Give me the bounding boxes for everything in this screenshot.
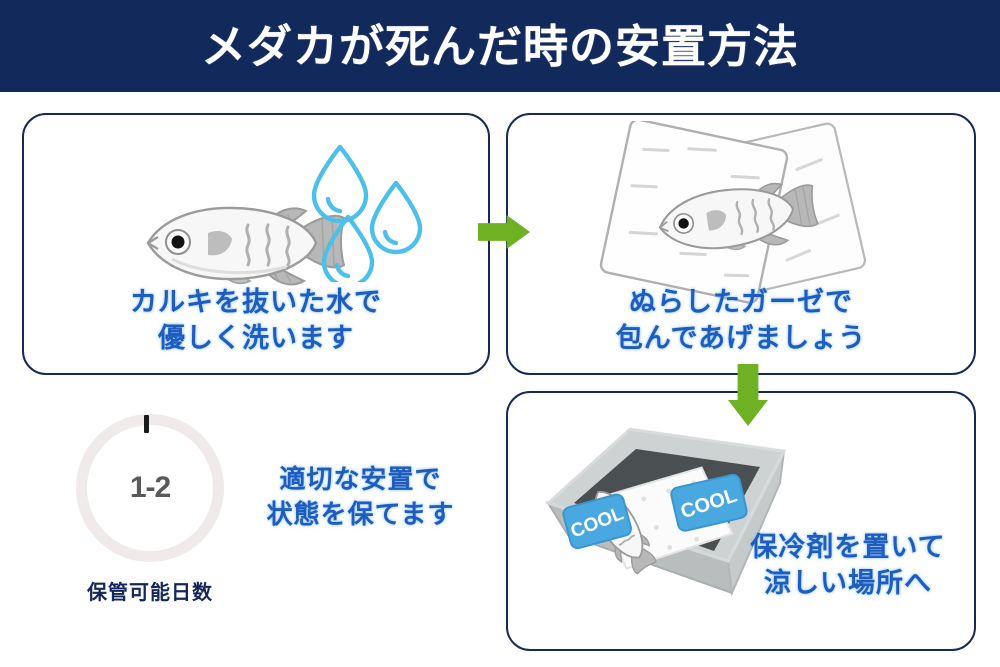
- caption-wrap: ぬらしたガーゼで 包んであげましょう: [508, 285, 974, 356]
- caption-cool: 保冷剤を置いて 涼しい場所へ: [730, 530, 966, 601]
- step-panel-wash: カルキを抜いた水で 優しく洗います: [22, 113, 490, 375]
- gauge-note: 適切な安置で 状態を保てます: [248, 462, 473, 532]
- gauge-note-line2: 状態を保てます: [248, 497, 473, 532]
- storage-days-gauge: 1-2 保管可能日数: [70, 414, 230, 605]
- gauge-note-line1: 適切な安置で: [248, 462, 473, 497]
- caption-wrap-line1: ぬらしたガーゼで: [508, 285, 974, 321]
- page-title: メダカが死んだ時の安置方法: [201, 24, 799, 69]
- gauze-sheets-illustration: [592, 121, 882, 306]
- step-panel-cool: COOL COOL 保冷剤を置いて 涼しい場所へ: [506, 391, 976, 651]
- caption-wrap-line2: 包んであげましょう: [508, 321, 974, 357]
- caption-wash: カルキを抜いた水で 優しく洗います: [24, 285, 488, 356]
- caption-wash-line1: カルキを抜いた水で: [24, 285, 488, 321]
- caption-cool-line1: 保冷剤を置いて: [730, 530, 966, 566]
- step-panel-wrap: ぬらしたガーゼで 包んであげましょう: [506, 113, 976, 375]
- caption-cool-line2: 涼しい場所へ: [730, 566, 966, 602]
- water-droplets-icon: [302, 137, 442, 282]
- gauge-label: 保管可能日数: [70, 576, 230, 605]
- gauge-ring-wrap: 1-2: [76, 414, 224, 562]
- gauge-tick-marker: [144, 415, 149, 433]
- caption-wash-line2: 優しく洗います: [24, 321, 488, 357]
- title-bar: メダカが死んだ時の安置方法: [0, 0, 1000, 92]
- gauge-value: 1-2: [76, 471, 224, 505]
